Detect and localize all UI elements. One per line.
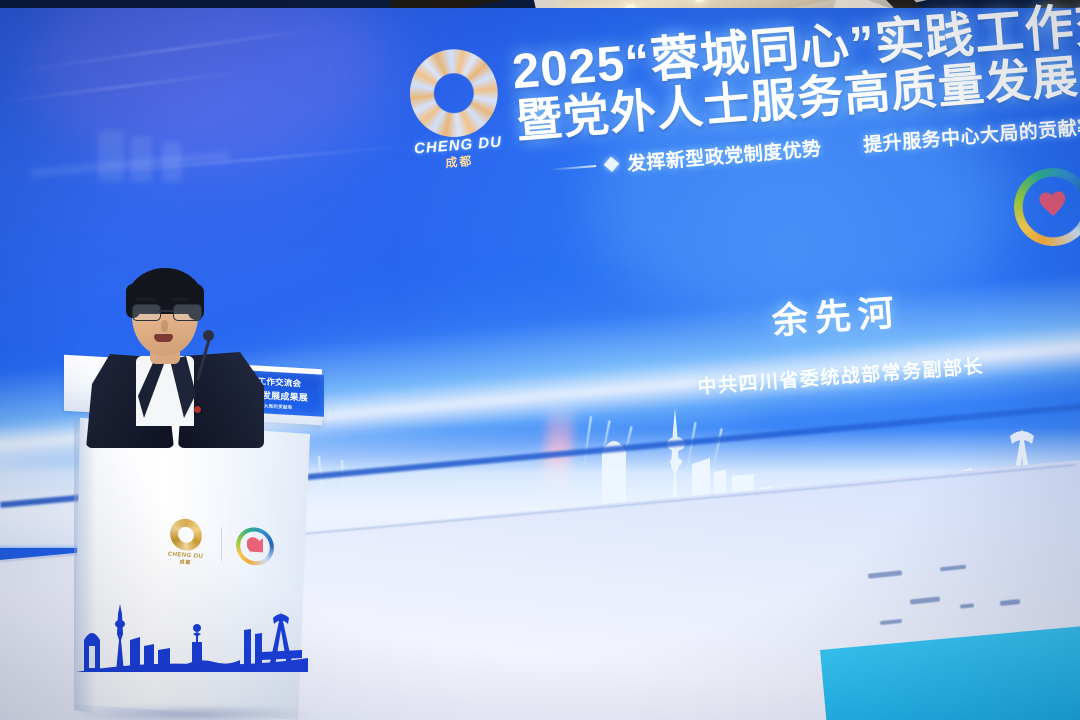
podium-side-shading [74, 418, 96, 718]
conference-stage-photo: CHENG DU 成都 2025“蓉城同心”实践工作交流会 暨党外人士服务高质量… [0, 0, 1080, 720]
sunbird-ring-icon [170, 517, 202, 551]
podium-logo-row: CHENG DU 成都 [154, 510, 284, 579]
lapel-pin [194, 406, 201, 413]
logo-divider [221, 527, 222, 561]
banner-subtitle-right: 提升服务中心大局的贡献率 [862, 112, 1080, 158]
united-front-heart-emblem [1011, 165, 1080, 249]
banner-subtitle-left: 发挥新型政党制度优势 [626, 134, 823, 177]
chengdu-sunbird-logo-gold: CHENG DU 成都 [165, 517, 207, 567]
sunbird-ring-icon [406, 46, 501, 141]
subtitle-rule-left [550, 165, 596, 171]
mouth [154, 334, 173, 342]
microphone-head [203, 330, 214, 341]
nose [161, 320, 168, 332]
chengdu-skyline-silhouette-blue [76, 600, 308, 672]
podium-base-shadow [72, 706, 312, 720]
eyeglasses-icon [132, 304, 200, 320]
chengdu-sunbird-logo: CHENG DU 成都 [398, 45, 511, 165]
podium-speaker [82, 268, 272, 448]
united-front-heart-emblem [236, 526, 274, 567]
diamond-icon [604, 157, 620, 173]
